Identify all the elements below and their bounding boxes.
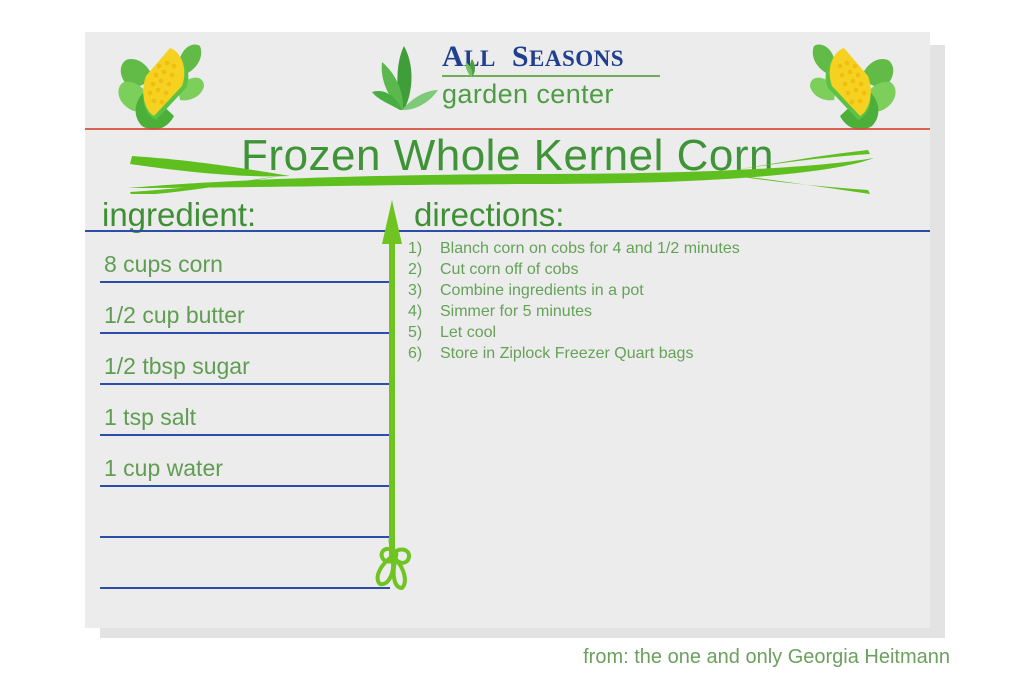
ruled-line — [100, 383, 390, 385]
ingredients-heading: ingredient: — [102, 197, 256, 233]
corn-cob-icon — [806, 30, 902, 138]
direction-item: 4) Simmer for 5 minutes — [408, 301, 888, 322]
red-divider-rule — [85, 128, 930, 130]
brand-line-two: garden center — [442, 79, 660, 109]
direction-item: 3) Combine ingredients in a pot — [408, 280, 888, 301]
ruled-line — [100, 485, 390, 487]
direction-text: Let cool — [440, 322, 496, 343]
direction-item: 6) Store in Ziplock Freezer Quart bags — [408, 343, 888, 364]
ingredient-item: 1/2 tbsp sugar — [104, 352, 394, 380]
recipe-card-page: ALL SEASONS garden center Frozen Whole K… — [0, 0, 1024, 683]
direction-item: 2) Cut corn off of cobs — [408, 259, 888, 280]
leaf-cluster-icon — [370, 42, 440, 112]
up-arrow-line-with-bow-icon — [368, 198, 424, 598]
ingredient-item: 1 tsp salt — [104, 403, 394, 431]
directions-list: 1) Blanch corn on cobs for 4 and 1/2 min… — [408, 238, 888, 364]
direction-text: Simmer for 5 minutes — [440, 301, 592, 322]
direction-text: Blanch corn on cobs for 4 and 1/2 minute… — [440, 238, 740, 259]
ruled-line — [100, 536, 390, 538]
double-arrow-brushstroke — [122, 148, 877, 194]
direction-item: 5) Let cool — [408, 322, 888, 343]
small-leaf-icon — [463, 59, 479, 77]
direction-item: 1) Blanch corn on cobs for 4 and 1/2 min… — [408, 238, 888, 259]
brand-logo: ALL SEASONS garden center — [370, 38, 660, 116]
corn-cob-icon — [112, 30, 208, 138]
direction-text: Combine ingredients in a pot — [440, 280, 644, 301]
direction-text: Cut corn off of cobs — [440, 259, 578, 280]
ingredient-item: 8 cups corn — [104, 250, 394, 278]
ruled-line — [100, 281, 390, 283]
directions-heading: directions: — [414, 197, 564, 233]
recipe-credit: from: the one and only Georgia Heitmann — [300, 645, 950, 669]
ruled-line — [85, 230, 930, 232]
ruled-line — [100, 332, 390, 334]
ingredient-item: 1/2 cup butter — [104, 301, 394, 329]
ruled-line — [100, 587, 390, 589]
ingredient-item: 1 cup water — [104, 454, 394, 482]
ruled-line — [100, 434, 390, 436]
direction-text: Store in Ziplock Freezer Quart bags — [440, 343, 693, 364]
